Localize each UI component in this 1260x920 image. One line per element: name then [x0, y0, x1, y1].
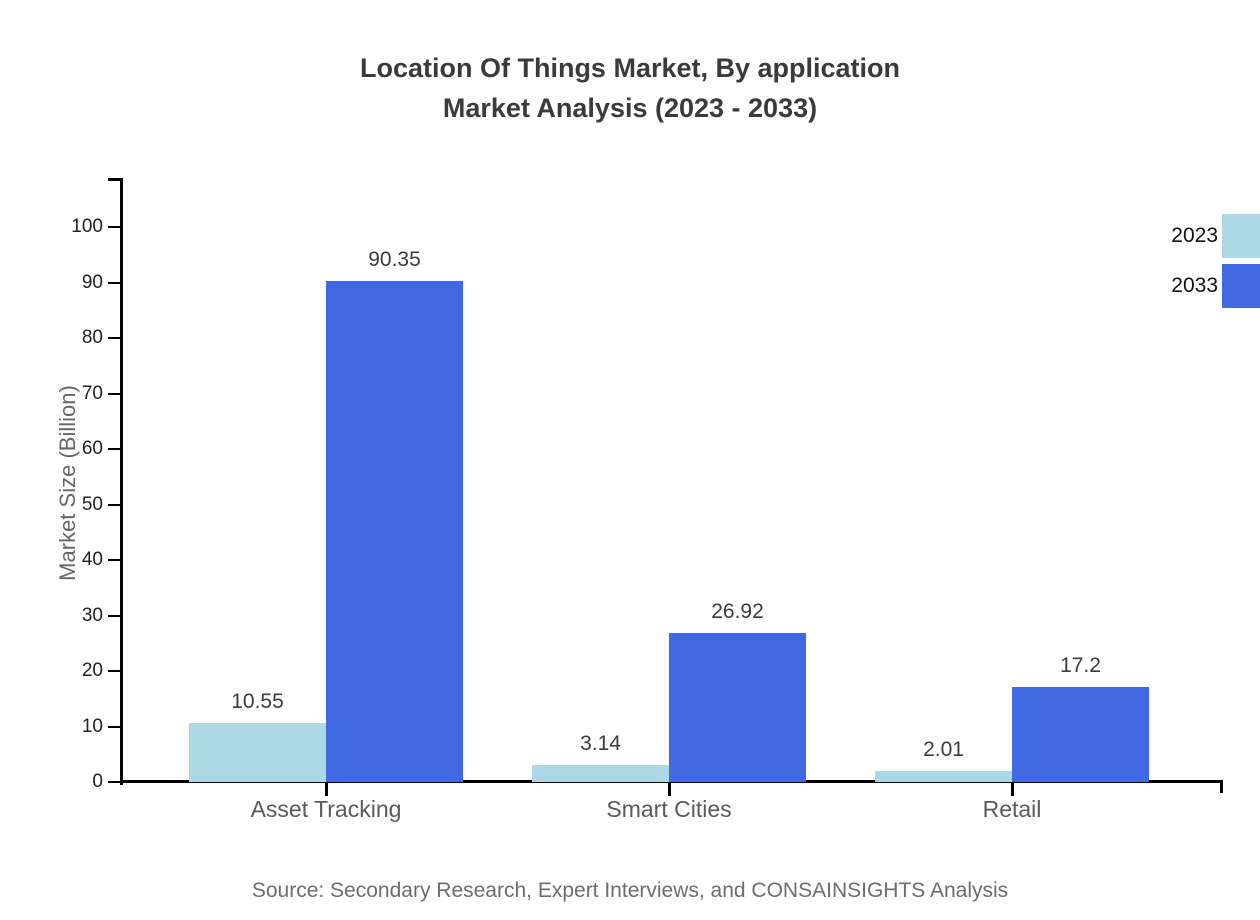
- y-axis-tick: [108, 282, 121, 284]
- y-axis-tick: [108, 726, 121, 728]
- y-axis-tick-label: 70: [82, 384, 103, 403]
- source-note: Source: Secondary Research, Expert Inter…: [0, 878, 1260, 904]
- x-axis-category-label: Asset Tracking: [166, 795, 486, 823]
- y-axis-tick-label: 20: [82, 661, 103, 680]
- y-axis-line: [120, 178, 123, 785]
- y-axis-tick: [108, 615, 121, 617]
- y-axis-tick: [108, 226, 121, 228]
- y-axis-tick: [108, 393, 121, 395]
- x-axis-category-label: Retail: [852, 795, 1172, 823]
- y-axis-tick-label: 90: [82, 273, 103, 292]
- bar-value-label: 17.2: [991, 655, 1171, 676]
- bar-2023-smart-cities[interactable]: [532, 765, 669, 782]
- y-axis-tick: [108, 781, 121, 783]
- legend-item-label: 2023: [1126, 225, 1218, 246]
- bar-2023-asset-tracking[interactable]: [189, 723, 326, 782]
- x-axis-end-cap: [1220, 780, 1223, 793]
- y-axis-tick-label: 10: [82, 717, 103, 736]
- y-axis-tick-label: 30: [82, 606, 103, 625]
- y-axis-tick-label: 80: [82, 328, 103, 347]
- y-axis-tick: [108, 670, 121, 672]
- bar-value-label: 3.14: [511, 733, 691, 754]
- legend-item-2023[interactable]: 2023: [1126, 214, 1260, 258]
- y-axis-tick-label: 50: [82, 495, 103, 514]
- y-axis-tick: [108, 504, 121, 506]
- legend-color-swatch: [1222, 264, 1260, 308]
- y-axis-tick: [108, 559, 121, 561]
- x-axis-category-label: Smart Cities: [509, 795, 829, 823]
- bar-2023-retail[interactable]: [875, 771, 1012, 782]
- y-axis-tick: [108, 337, 121, 339]
- legend-color-swatch: [1222, 214, 1260, 258]
- bar-value-label: 90.35: [305, 249, 485, 270]
- y-axis-tick-label: 0: [92, 772, 103, 791]
- legend-item-label: 2033: [1126, 275, 1218, 296]
- bar-value-label: 26.92: [648, 601, 828, 622]
- bar-2033-smart-cities[interactable]: [669, 633, 806, 782]
- bar-value-label: 10.55: [168, 691, 348, 712]
- legend-item-2033[interactable]: 2033: [1126, 264, 1260, 308]
- y-axis-title: Market Size (Billion): [57, 203, 79, 763]
- plot-area: 0102030405060708090100 Asset TrackingSma…: [0, 0, 1260, 920]
- bar-2033-asset-tracking[interactable]: [326, 281, 463, 782]
- y-axis-tick-label: 40: [82, 550, 103, 569]
- y-axis-tick: [108, 448, 121, 450]
- bar-value-label: 2.01: [854, 739, 1034, 760]
- chart-legend: 20232033: [1126, 214, 1260, 308]
- bar-2033-retail[interactable]: [1012, 687, 1149, 782]
- y-axis-tick-label: 60: [82, 439, 103, 458]
- y-axis-top-cap: [108, 178, 122, 181]
